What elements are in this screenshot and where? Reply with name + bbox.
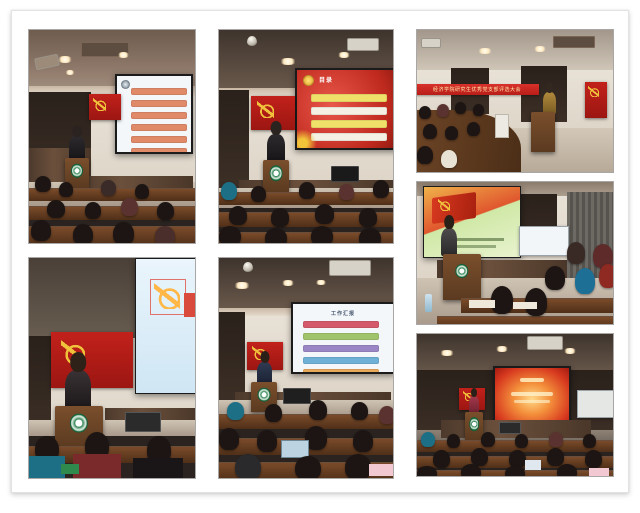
speaker-figure [69,136,85,160]
ceiling-projector-icon [527,336,563,350]
photo-bottom-middle[interactable]: 工作汇报 [218,257,394,479]
speaker-figure [441,228,457,256]
photo-right-top[interactable]: 经济学院研究生优秀党支部评选大会 [416,29,614,173]
photo-right-bottom[interactable] [416,333,614,477]
laptop-icon [283,388,311,404]
laptop-icon [125,412,161,432]
whiteboard [519,226,569,256]
wall-banner: 经济学院研究生优秀党支部评选大会 [416,84,539,95]
podium [263,160,289,192]
projection-screen [423,186,521,258]
party-flag [585,82,607,118]
podium-logo-icon [70,413,88,432]
podium-logo-icon [71,163,83,178]
laptop-icon [331,166,359,182]
wall-banner-text: 经济学院研究生优秀党支部评选大会 [433,86,521,93]
speaker-figure [65,370,91,410]
speaker-figure [543,92,556,114]
slide-badge-icon [303,75,314,86]
security-camera-icon [247,36,257,46]
photo-top-middle[interactable]: 目录 [218,29,394,244]
podium [531,112,555,152]
ceiling-projector-icon [421,38,441,48]
slide-title: 工作汇报 [331,310,355,317]
laptop-icon [499,422,521,434]
security-camera-icon [243,262,253,272]
projection-screen: 目录 [295,68,394,150]
collage-page: 目录 [0,0,640,513]
podium [465,412,483,440]
slide-title: 目录 [319,75,333,84]
projection-screen: 工作汇报 [291,302,394,374]
podium-logo-icon [469,417,479,431]
ceiling-projector-icon [329,260,371,276]
collage-card: 目录 [11,10,629,493]
podium-logo-icon [270,166,283,181]
party-flag [89,94,121,120]
party-flag [51,332,133,388]
podium [443,254,481,300]
speaker-figure [267,134,285,162]
photo-bottom-left[interactable] [28,257,196,479]
podium-logo-icon [258,387,271,402]
projection-screen [493,366,571,426]
photo-right-middle[interactable] [416,181,614,325]
projection-screen [135,258,196,394]
podium-logo-icon [455,264,468,278]
projection-screen [115,74,193,154]
whiteboard [577,390,614,418]
ceiling-projector-icon [347,38,379,51]
photo-top-left[interactable] [28,29,196,244]
